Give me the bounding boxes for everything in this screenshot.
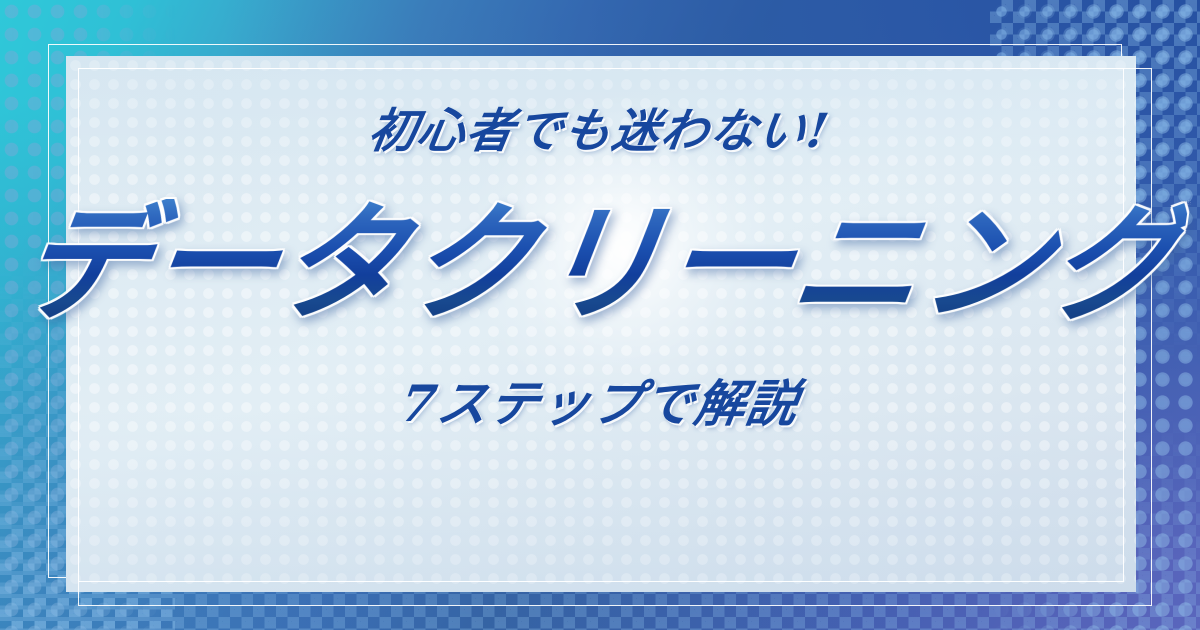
inner-frame-rule	[78, 68, 1152, 606]
banner-canvas: 初心者でも迷わない! データクリーニング 7ステップで解説	[0, 0, 1200, 630]
